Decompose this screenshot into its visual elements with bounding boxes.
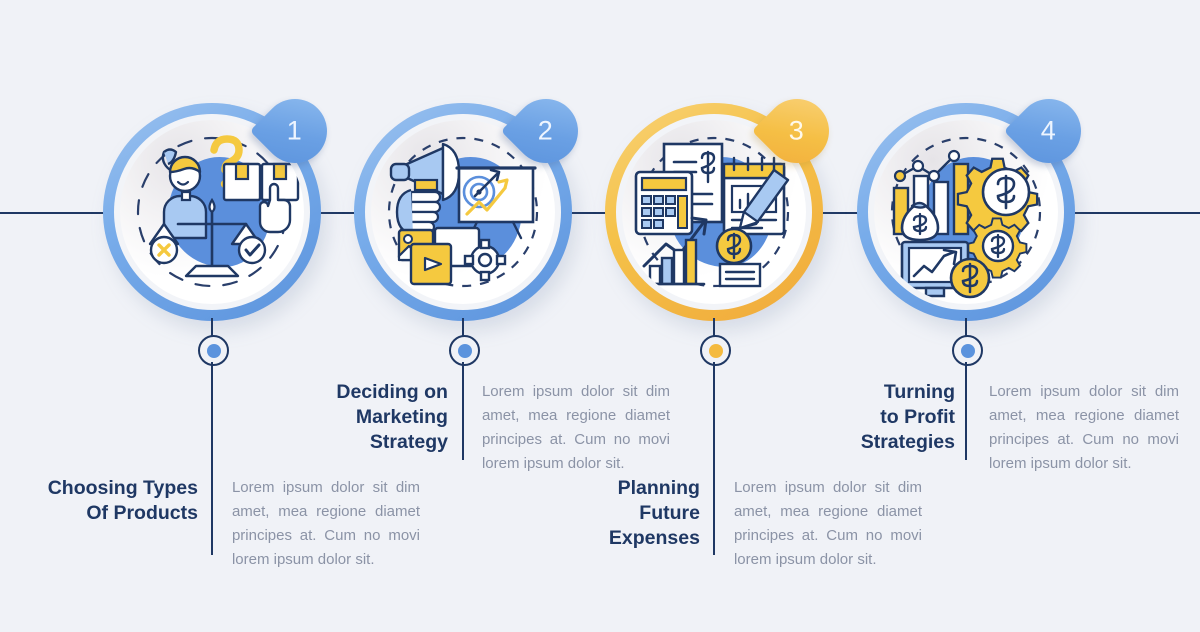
step-text-3: Planning Future Expenses Lorem ipsum dol… <box>502 476 922 572</box>
step-number: 2 <box>538 118 553 145</box>
step-text-4: Turning to Profit Strategies Lorem ipsum… <box>760 380 1180 476</box>
timeline-dot-2[interactable] <box>449 335 480 366</box>
step-number: 4 <box>1041 118 1056 145</box>
step-description-1: Lorem ipsum dolor sit dim amet, mea regi… <box>216 476 420 572</box>
step-description-3: Lorem ipsum dolor sit dim amet, mea regi… <box>718 476 922 572</box>
step-circle-3[interactable]: 3 <box>605 103 823 321</box>
step-description-4: Lorem ipsum dolor sit dim amet, mea regi… <box>973 380 1179 476</box>
step-title-1: Choosing Types Of Products <box>0 476 214 526</box>
step-circle-2[interactable]: 2 <box>354 103 572 321</box>
step-title-4: Turning to Profit Strategies <box>760 380 971 455</box>
step-number: 1 <box>287 118 302 145</box>
step-description-2: Lorem ipsum dolor sit dim amet, mea regi… <box>466 380 670 476</box>
step-number: 3 <box>789 118 804 145</box>
timeline-dot-4[interactable] <box>952 335 983 366</box>
timeline-dot-3[interactable] <box>700 335 731 366</box>
infographic-canvas: 1 Choosing Types Of Products Lorem ipsum… <box>0 0 1200 632</box>
timeline-dot-1[interactable] <box>198 335 229 366</box>
step-circle-4[interactable]: 4 <box>857 103 1075 321</box>
step-title-2: Deciding on Marketing Strategy <box>250 380 464 455</box>
step-text-1: Choosing Types Of Products Lorem ipsum d… <box>0 476 420 572</box>
step-text-2: Deciding on Marketing Strategy Lorem ips… <box>250 380 670 476</box>
step-circle-1[interactable]: 1 <box>103 103 321 321</box>
step-title-3: Planning Future Expenses <box>502 476 716 551</box>
